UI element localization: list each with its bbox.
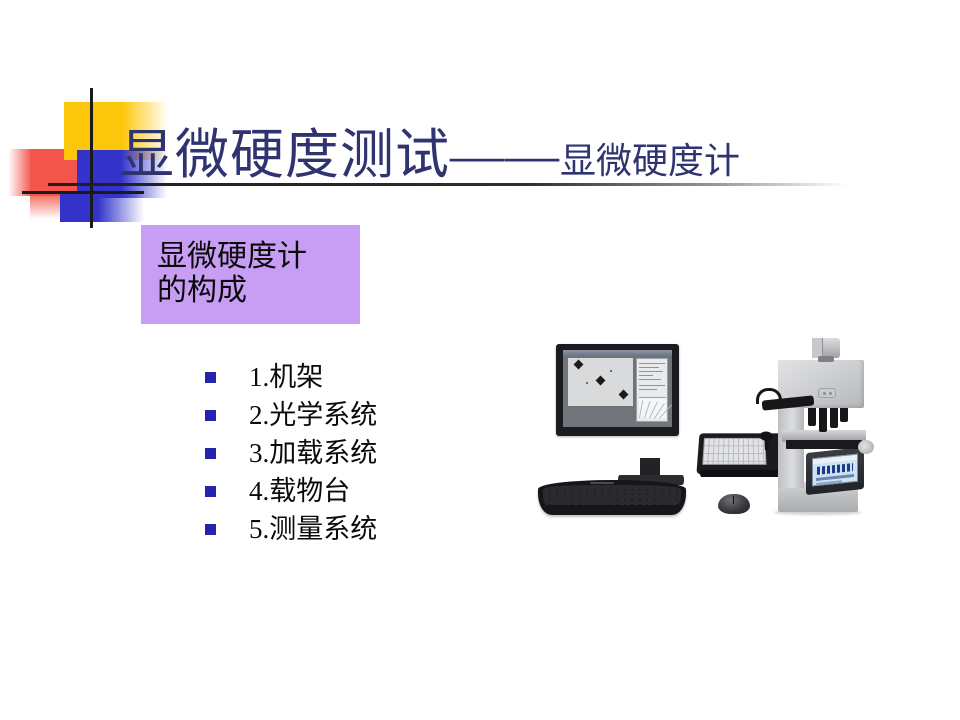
list-item-label: 4.载物台: [249, 478, 350, 505]
square-bullet-icon: [205, 448, 216, 459]
panel-row: [639, 385, 665, 386]
panel-row: [639, 389, 657, 390]
panel-row: [639, 363, 665, 364]
objective-lens: [819, 406, 827, 432]
list-item: 1.机架: [205, 358, 505, 396]
indentation-mark-icon: [574, 360, 584, 370]
keyboard: [538, 480, 686, 515]
tester-screen-housing: [806, 447, 864, 495]
keyboard-indicator-leds: [590, 482, 614, 484]
callout-line-1: 显微硬度计: [157, 240, 360, 274]
slide-canvas: 显微硬度测试—— 显微硬度计 显微硬度计 的构成 1.机架 2.光学系统 3.加…: [0, 0, 960, 720]
callout-line-2: 的构成: [157, 274, 360, 308]
touchscreen-row: [816, 480, 842, 485]
horizontal-rule-short: [22, 191, 144, 194]
head-latch: [818, 388, 836, 398]
sample-speck: [586, 382, 588, 384]
panel-row: [639, 367, 659, 368]
touchscreen-readout: [817, 463, 853, 475]
camera-lens: [812, 338, 823, 358]
objective-lens: [840, 406, 848, 422]
sample-image-view: [568, 358, 633, 406]
square-bullet-icon: [205, 486, 216, 497]
square-bullet-icon: [205, 372, 216, 383]
control-pad-keypad: [702, 438, 766, 465]
title-underline-rule: [48, 183, 848, 186]
panel-row: [639, 379, 661, 380]
square-bullet-icon: [205, 410, 216, 421]
list-item: 5.测量系统: [205, 510, 505, 548]
list-item: 3.加载系统: [205, 434, 505, 472]
keyboard-keys: [543, 485, 681, 505]
page-title: 显微硬度测试—— 显微硬度计: [120, 100, 900, 182]
page-title-main: 显微硬度测试——: [120, 128, 560, 182]
vertical-rule: [90, 88, 93, 228]
component-list: 1.机架 2.光学系统 3.加载系统 4.载物台 5.测量系统: [205, 358, 505, 548]
indentation-mark-icon: [596, 376, 606, 386]
panel-row: [639, 375, 653, 376]
equipment-photo: [522, 322, 922, 542]
stage-micrometer-knob[interactable]: [858, 440, 874, 454]
software-side-panel: [636, 358, 668, 422]
blue-square-lower-fade: [98, 192, 144, 222]
section-callout-box: 显微硬度计 的构成: [141, 225, 360, 324]
page-title-sub: 显微硬度计: [560, 143, 740, 182]
list-item-label: 5.测量系统: [249, 516, 377, 543]
list-item-label: 3.加载系统: [249, 440, 377, 467]
mouse: [718, 494, 750, 514]
list-item: 4.载物台: [205, 472, 505, 510]
camera-mount-ring: [818, 356, 834, 362]
hardness-tester: [760, 330, 880, 522]
objective-lens: [830, 406, 838, 428]
monitor: [556, 344, 679, 436]
software-titlebar: [563, 350, 672, 356]
list-item: 2.光学系统: [205, 396, 505, 434]
panel-row: [639, 371, 663, 372]
indentation-mark-icon: [619, 390, 629, 400]
mouse-button-seam: [733, 496, 734, 504]
monitor-screen: [563, 350, 672, 427]
sample-speck: [610, 370, 612, 372]
specimen-stage-plate: [786, 440, 862, 449]
list-item-label: 1.机架: [249, 364, 323, 391]
red-square-fade-left: [8, 149, 32, 196]
panel-chart: [639, 397, 666, 418]
tester-touchscreen[interactable]: [812, 454, 858, 487]
list-item-label: 2.光学系统: [249, 402, 377, 429]
tester-side-arm: [752, 388, 816, 412]
square-bullet-icon: [205, 524, 216, 535]
